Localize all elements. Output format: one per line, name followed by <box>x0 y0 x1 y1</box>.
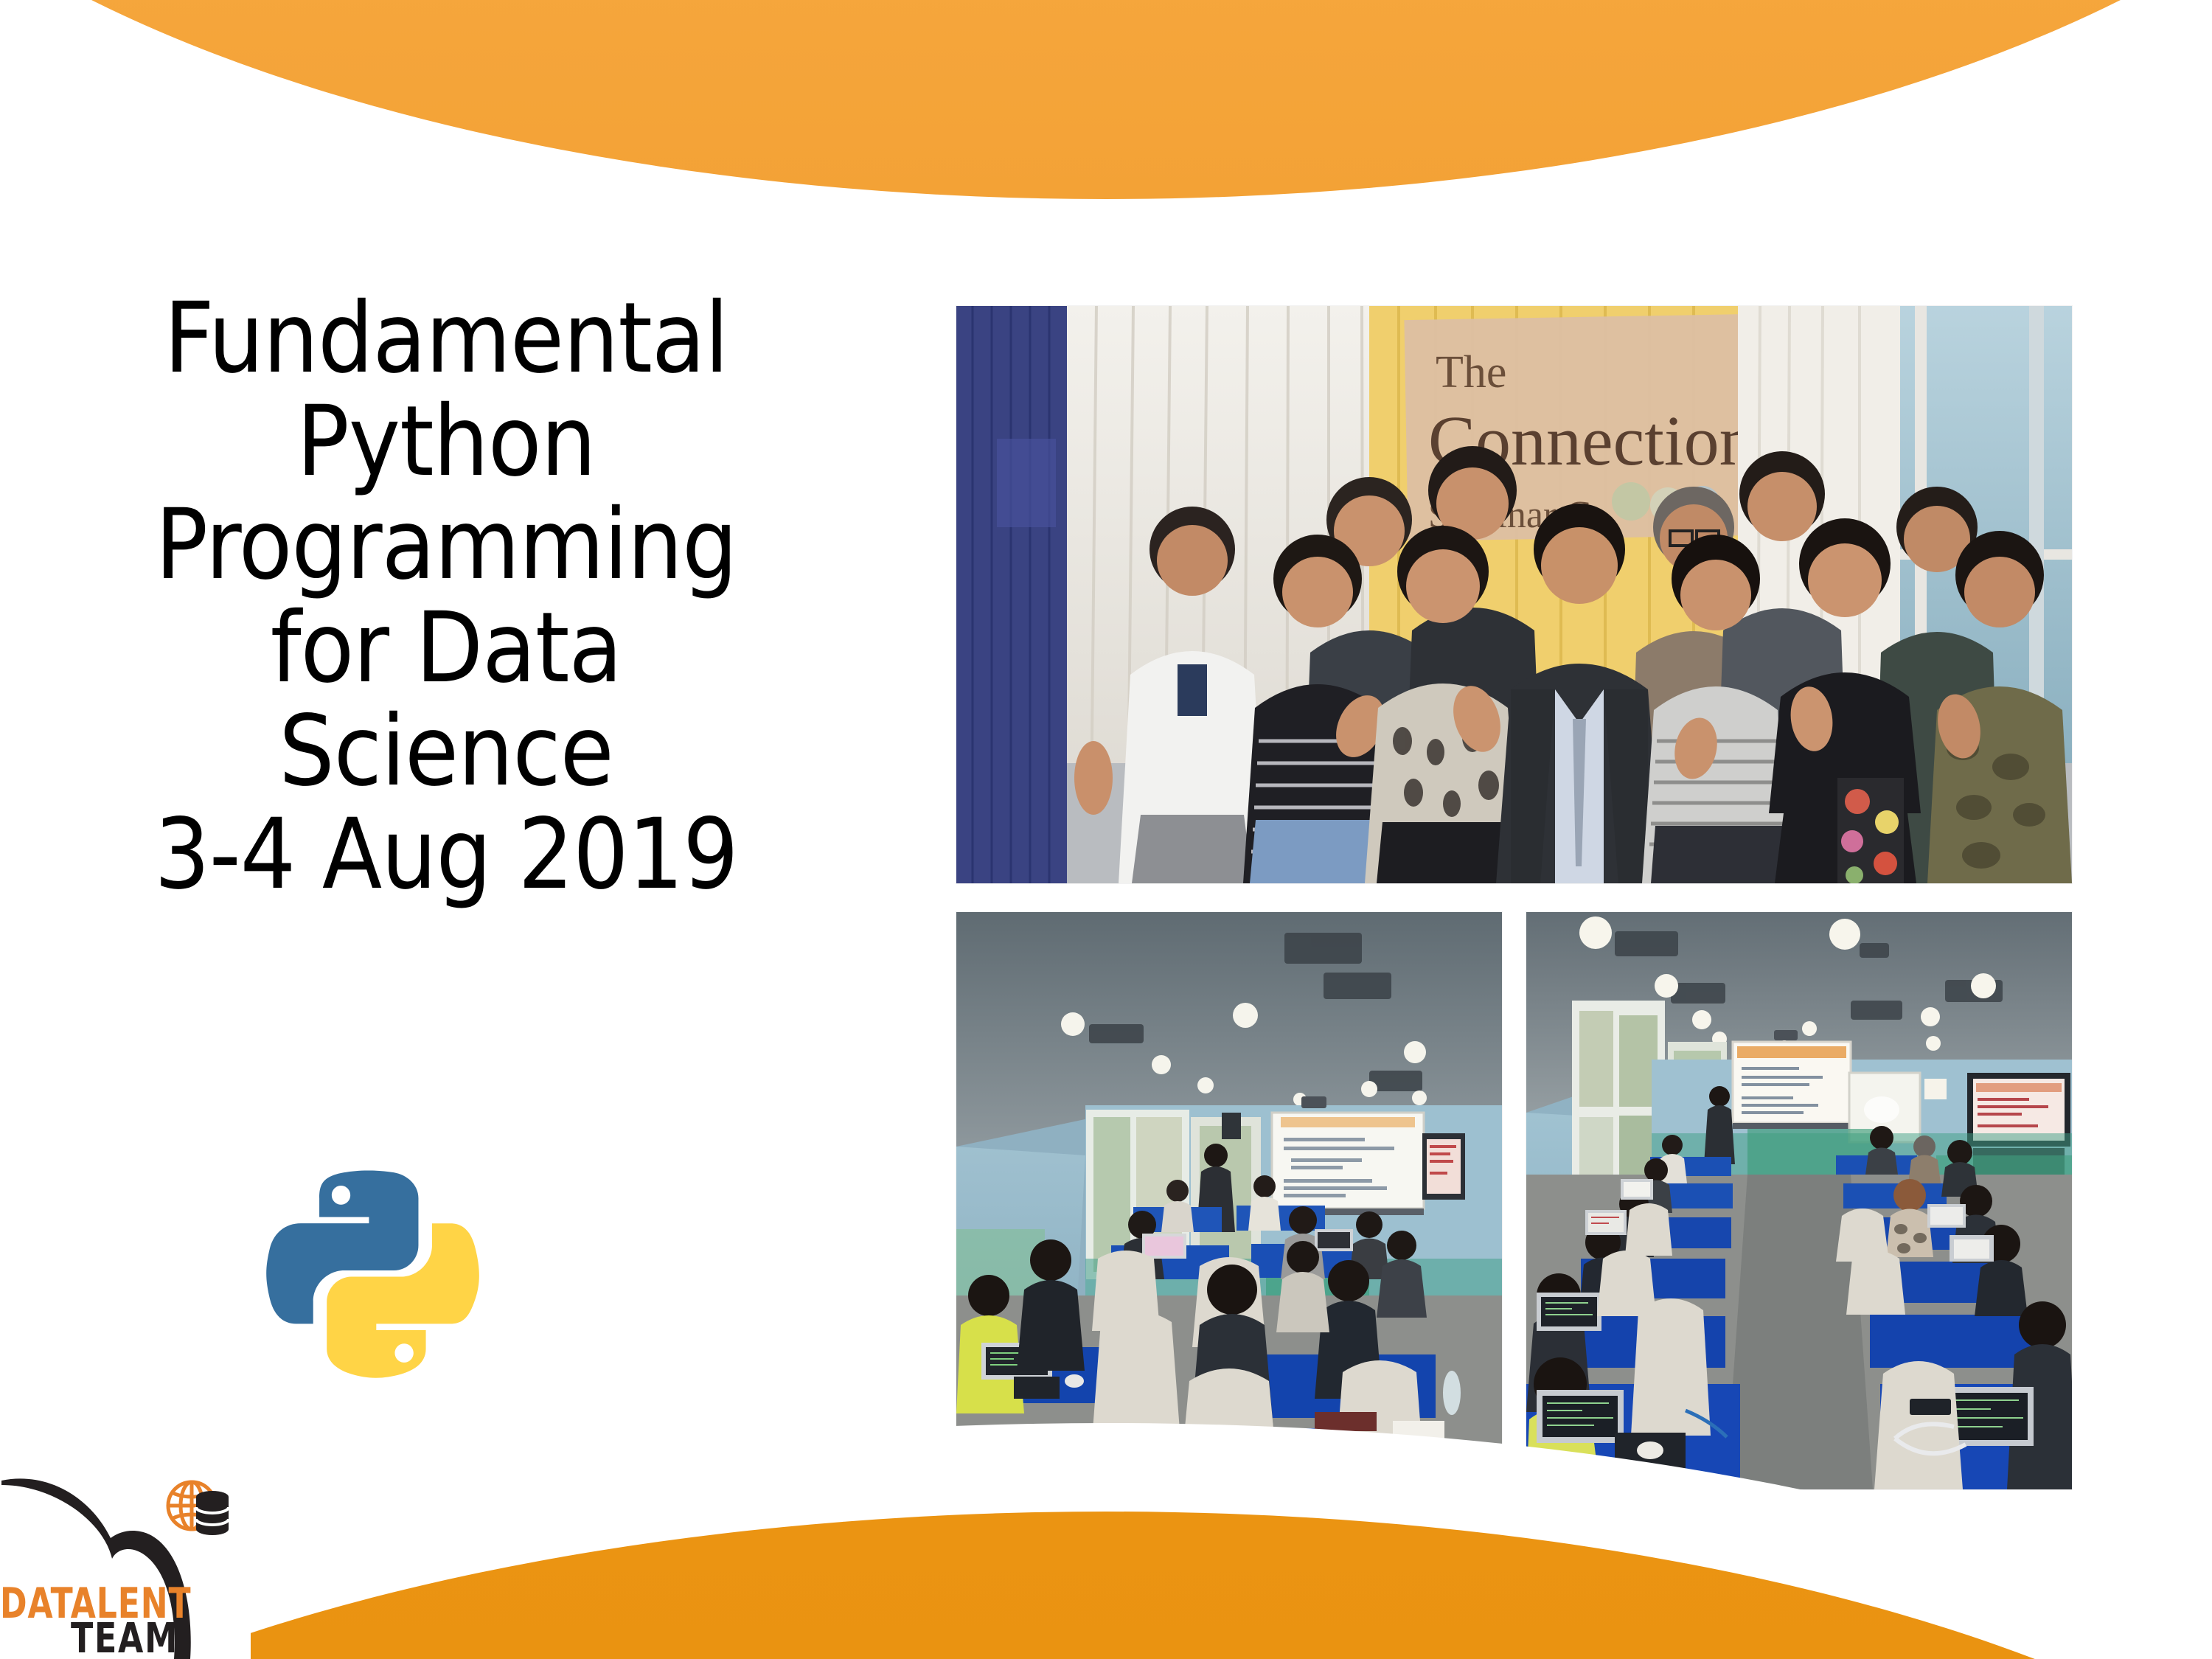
title-date-line: 3-4 Aug 2019 <box>55 804 837 907</box>
presentation-slide: Fundamental Python Programming for Data … <box>0 0 2212 1659</box>
python-logo <box>254 1158 483 1386</box>
bottom-decorative-band <box>0 1408 2212 1659</box>
slide-title: Fundamental Python Programming for Data … <box>55 288 837 906</box>
title-line-2: Python <box>55 391 837 494</box>
title-line-4: for Data <box>55 597 837 700</box>
top-decorative-band <box>0 0 2212 236</box>
svg-text:The: The <box>1436 347 1506 397</box>
classroom-photo-left: Classroom with attendees at blue-draped … <box>956 912 1502 1489</box>
group-photo: The Connection Seminar C <box>956 306 2072 883</box>
classroom-photo-right: Classroom aisle view with attendees work… <box>1526 912 2072 1489</box>
title-line-1: Fundamental <box>55 288 837 391</box>
title-line-5: Science <box>55 700 837 804</box>
title-line-3: Programming <box>55 494 837 597</box>
brand-name-secondary: TEAM <box>71 1615 178 1659</box>
